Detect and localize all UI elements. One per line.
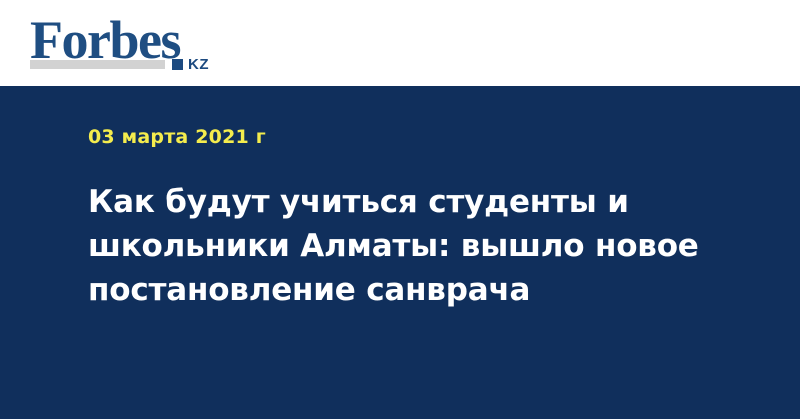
- article-hero-banner: 03 марта 2021 г Как будут учиться студен…: [0, 86, 800, 419]
- article-publish-date: 03 марта 2021 г: [88, 126, 266, 148]
- forbes-wordmark: Forbes: [30, 13, 180, 67]
- forbes-kz-logo[interactable]: Forbes KZ: [30, 13, 230, 75]
- logo-underline-bar: [30, 60, 165, 69]
- logo-square-icon: [172, 59, 183, 70]
- article-headline[interactable]: Как будут учиться студенты и школьники А…: [88, 180, 728, 312]
- logo-locale-label: KZ: [188, 57, 209, 72]
- article-hero-card: Forbes KZ 03 марта 2021 г Как будут учит…: [0, 0, 800, 419]
- site-header: Forbes KZ: [0, 0, 800, 86]
